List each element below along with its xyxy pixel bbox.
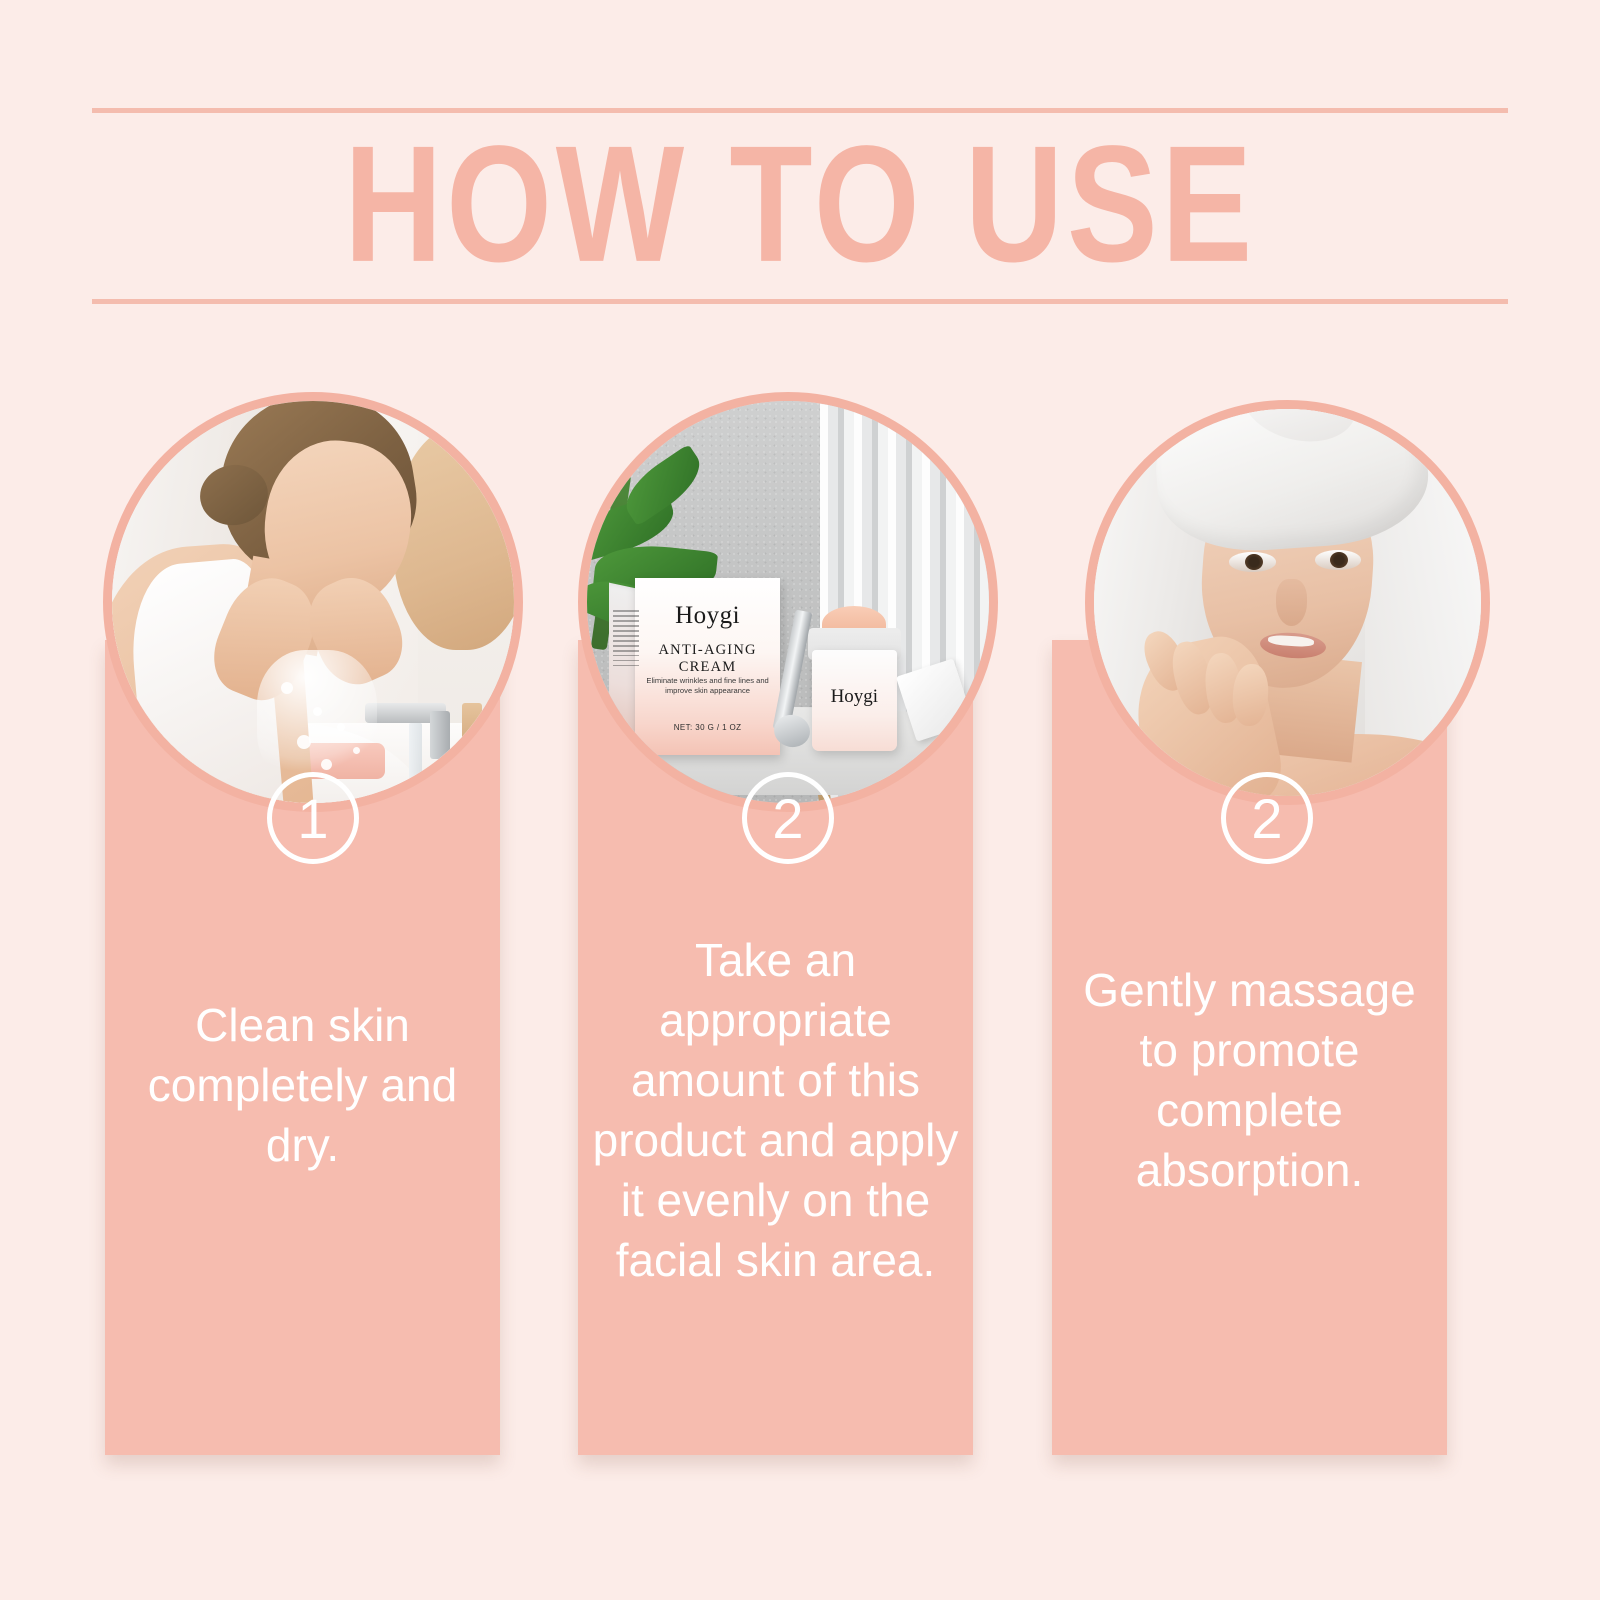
woman-washing-face-photo — [103, 392, 523, 812]
step-badge-3-label: 2 — [1251, 786, 1282, 851]
step-badge-1-label: 1 — [297, 786, 328, 851]
steps-container: 1 Clean skin completely and dry. Hoygi A… — [0, 0, 1600, 1600]
step-badge-2: 2 — [742, 772, 834, 864]
anti-aging-cream-product-photo: Hoygi ANTI-AGING CREAM Eliminate wrinkle… — [578, 392, 998, 812]
product-net-weight: NET: 30 G / 1 OZ — [635, 723, 780, 732]
step-badge-1: 1 — [267, 772, 359, 864]
step-badge-2-label: 2 — [772, 786, 803, 851]
product-name: ANTI-AGING CREAM — [635, 642, 780, 676]
step-caption-3: Gently massage to promote complete absor… — [1052, 960, 1447, 1200]
step-badge-3: 2 — [1221, 772, 1313, 864]
product-tagline: Eliminate wrinkles and fine lines and im… — [635, 676, 780, 696]
product-brand-jar: Hoygi — [812, 686, 896, 708]
woman-massaging-face-photo — [1085, 400, 1490, 805]
step-caption-1: Clean skin completely and dry. — [105, 995, 500, 1175]
product-brand-box: Hoygi — [635, 602, 780, 630]
step-caption-2: Take an appropriate amount of this produ… — [578, 930, 973, 1290]
